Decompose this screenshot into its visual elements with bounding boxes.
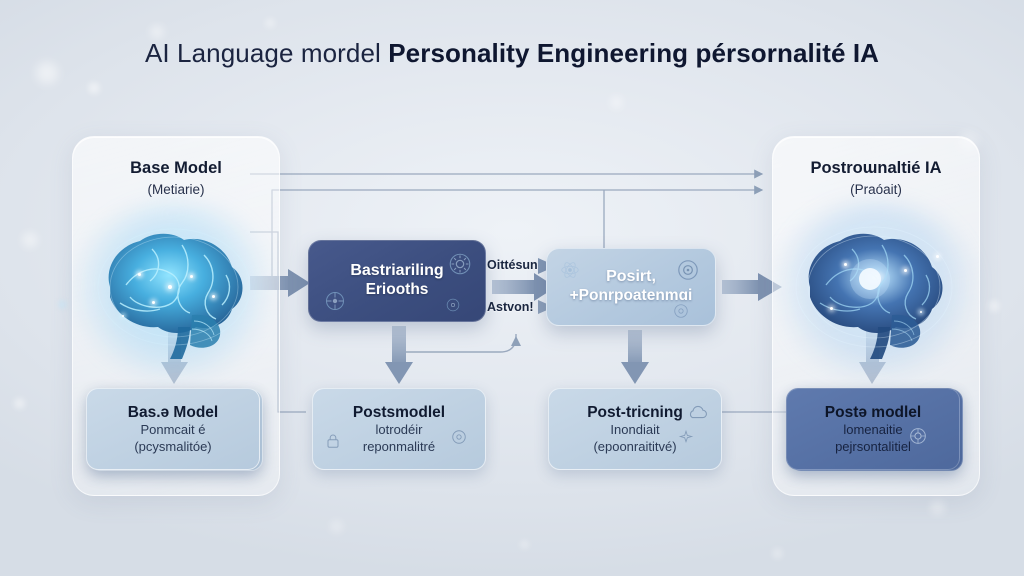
result-3-line2: Inondiait xyxy=(610,422,659,438)
lock-icon xyxy=(323,431,343,451)
diagram-canvas: AI Language mordel Personality Engineeri… xyxy=(0,0,1024,576)
panel-left-title: Base Model xyxy=(73,159,279,178)
arrow-down-training xyxy=(385,326,413,384)
flow-box-training[interactable]: Bastriariling Eriooths xyxy=(308,240,486,322)
flow-training-line1: Bastriariling xyxy=(350,262,443,281)
result-3-title: Post-tricning xyxy=(587,403,683,422)
result-box-3[interactable]: Post-tricning Inondiait (epoonraititvé) xyxy=(548,388,722,470)
result-box-4[interactable]: Postǝ modlel lomenaitie pejrsontalitiel xyxy=(786,388,960,470)
edge-label-bottom: Astvon! xyxy=(487,300,534,314)
result-2-line2: lotrodéir xyxy=(376,422,423,438)
flow-post-line1: Posirt, xyxy=(606,268,656,287)
network-icon xyxy=(907,425,929,447)
circuit-icon xyxy=(443,295,463,315)
result-2-title: Postsmodlel xyxy=(353,403,445,422)
title-part-light: AI Language mordel xyxy=(145,38,381,68)
brain-icon-left xyxy=(86,215,266,365)
result-1-title: Bas.ǝ Model xyxy=(128,403,218,422)
result-4-title: Postǝ modlel xyxy=(825,403,921,422)
flow-training-line2: Eriooths xyxy=(366,281,429,299)
panel-left-subtitle: (Metiarie) xyxy=(73,182,279,197)
atom-icon xyxy=(559,259,581,281)
panel-right-subtitle: (Praóait) xyxy=(773,182,979,197)
page-title: AI Language mordel Personality Engineeri… xyxy=(0,38,1024,69)
node-icon xyxy=(323,289,347,313)
brain-icon-right xyxy=(786,215,966,365)
gear-icon xyxy=(447,251,473,277)
result-1-line2: Ponmcait é xyxy=(140,422,205,438)
arrow-down-post xyxy=(621,330,649,384)
panel-right-title: Postroɯnaltié IA xyxy=(773,159,979,178)
result-4-line3: pejrsontalitiel xyxy=(835,439,911,455)
result-box-1[interactable]: Bas.ǝ Model Ponmcait é (pcysmalitóe) xyxy=(86,388,260,470)
target-icon xyxy=(675,257,701,283)
sparkle-icon xyxy=(677,429,695,447)
flow-box-post-training[interactable]: Posirt, +Ponrpoatenmɑi xyxy=(546,248,716,326)
result-2-line3: reponmalitré xyxy=(363,439,435,455)
flow-post-line2: +Ponrpoatenmɑi xyxy=(570,287,693,305)
title-part-bold: Personality Engineering pérsornalité IA xyxy=(388,38,879,68)
cloud-icon xyxy=(687,405,709,421)
edge-label-top: Oittésun xyxy=(487,258,538,272)
result-3-line3: (epoonraititvé) xyxy=(593,439,676,455)
result-4-line2: lomenaitie xyxy=(843,422,902,438)
result-box-2[interactable]: Postsmodlel lotrodéir reponmalitré xyxy=(312,388,486,470)
result-1-line3: (pcysmalitóe) xyxy=(134,439,211,455)
gear-icon xyxy=(449,427,469,447)
